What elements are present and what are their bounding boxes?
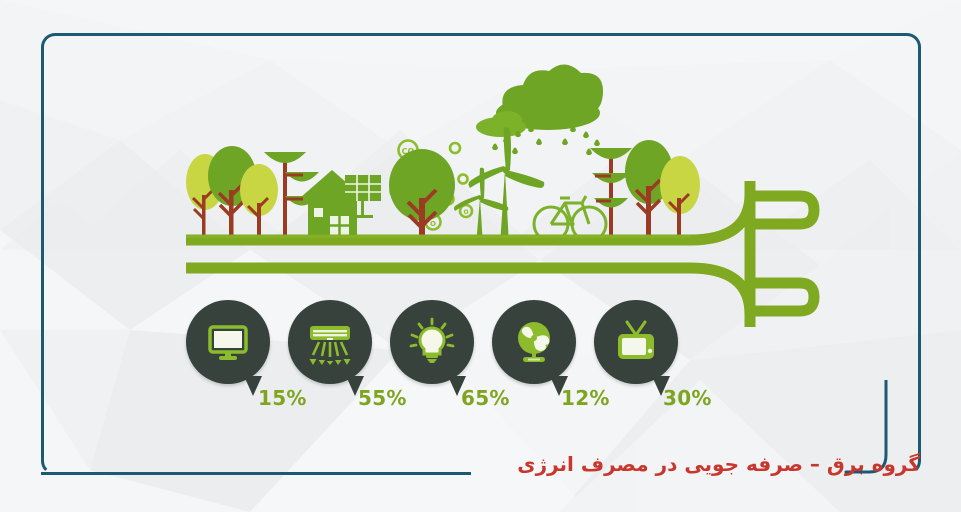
appliance-badge-row: 15%: [0, 0, 961, 512]
percent-television: 30%: [663, 386, 712, 410]
fan-icon: [492, 300, 576, 384]
badge-air-conditioner[interactable]: 55%: [288, 300, 372, 384]
badge-bubble[interactable]: [390, 300, 474, 384]
television-icon: [594, 300, 678, 384]
badge-monitor[interactable]: 15%: [186, 300, 270, 384]
badge-lightbulb[interactable]: 65%: [390, 300, 474, 384]
percent-monitor: 15%: [258, 386, 307, 410]
percent-lightbulb: 65%: [461, 386, 510, 410]
air-conditioner-icon: [288, 300, 372, 384]
page-title: گروه برق – صرفه جویی در مصرف انرژی: [450, 452, 920, 476]
lightbulb-icon: [390, 300, 474, 384]
badge-television[interactable]: 30%: [594, 300, 678, 384]
badge-fan[interactable]: 12%: [492, 300, 576, 384]
badge-bubble[interactable]: [288, 300, 372, 384]
badge-bubble[interactable]: [492, 300, 576, 384]
monitor-icon: [186, 300, 270, 384]
percent-air-conditioner: 55%: [358, 386, 407, 410]
badge-bubble[interactable]: [594, 300, 678, 384]
percent-fan: 12%: [561, 386, 610, 410]
infographic-canvas: CO O O O O O O: [0, 0, 961, 512]
badge-bubble[interactable]: [186, 300, 270, 384]
